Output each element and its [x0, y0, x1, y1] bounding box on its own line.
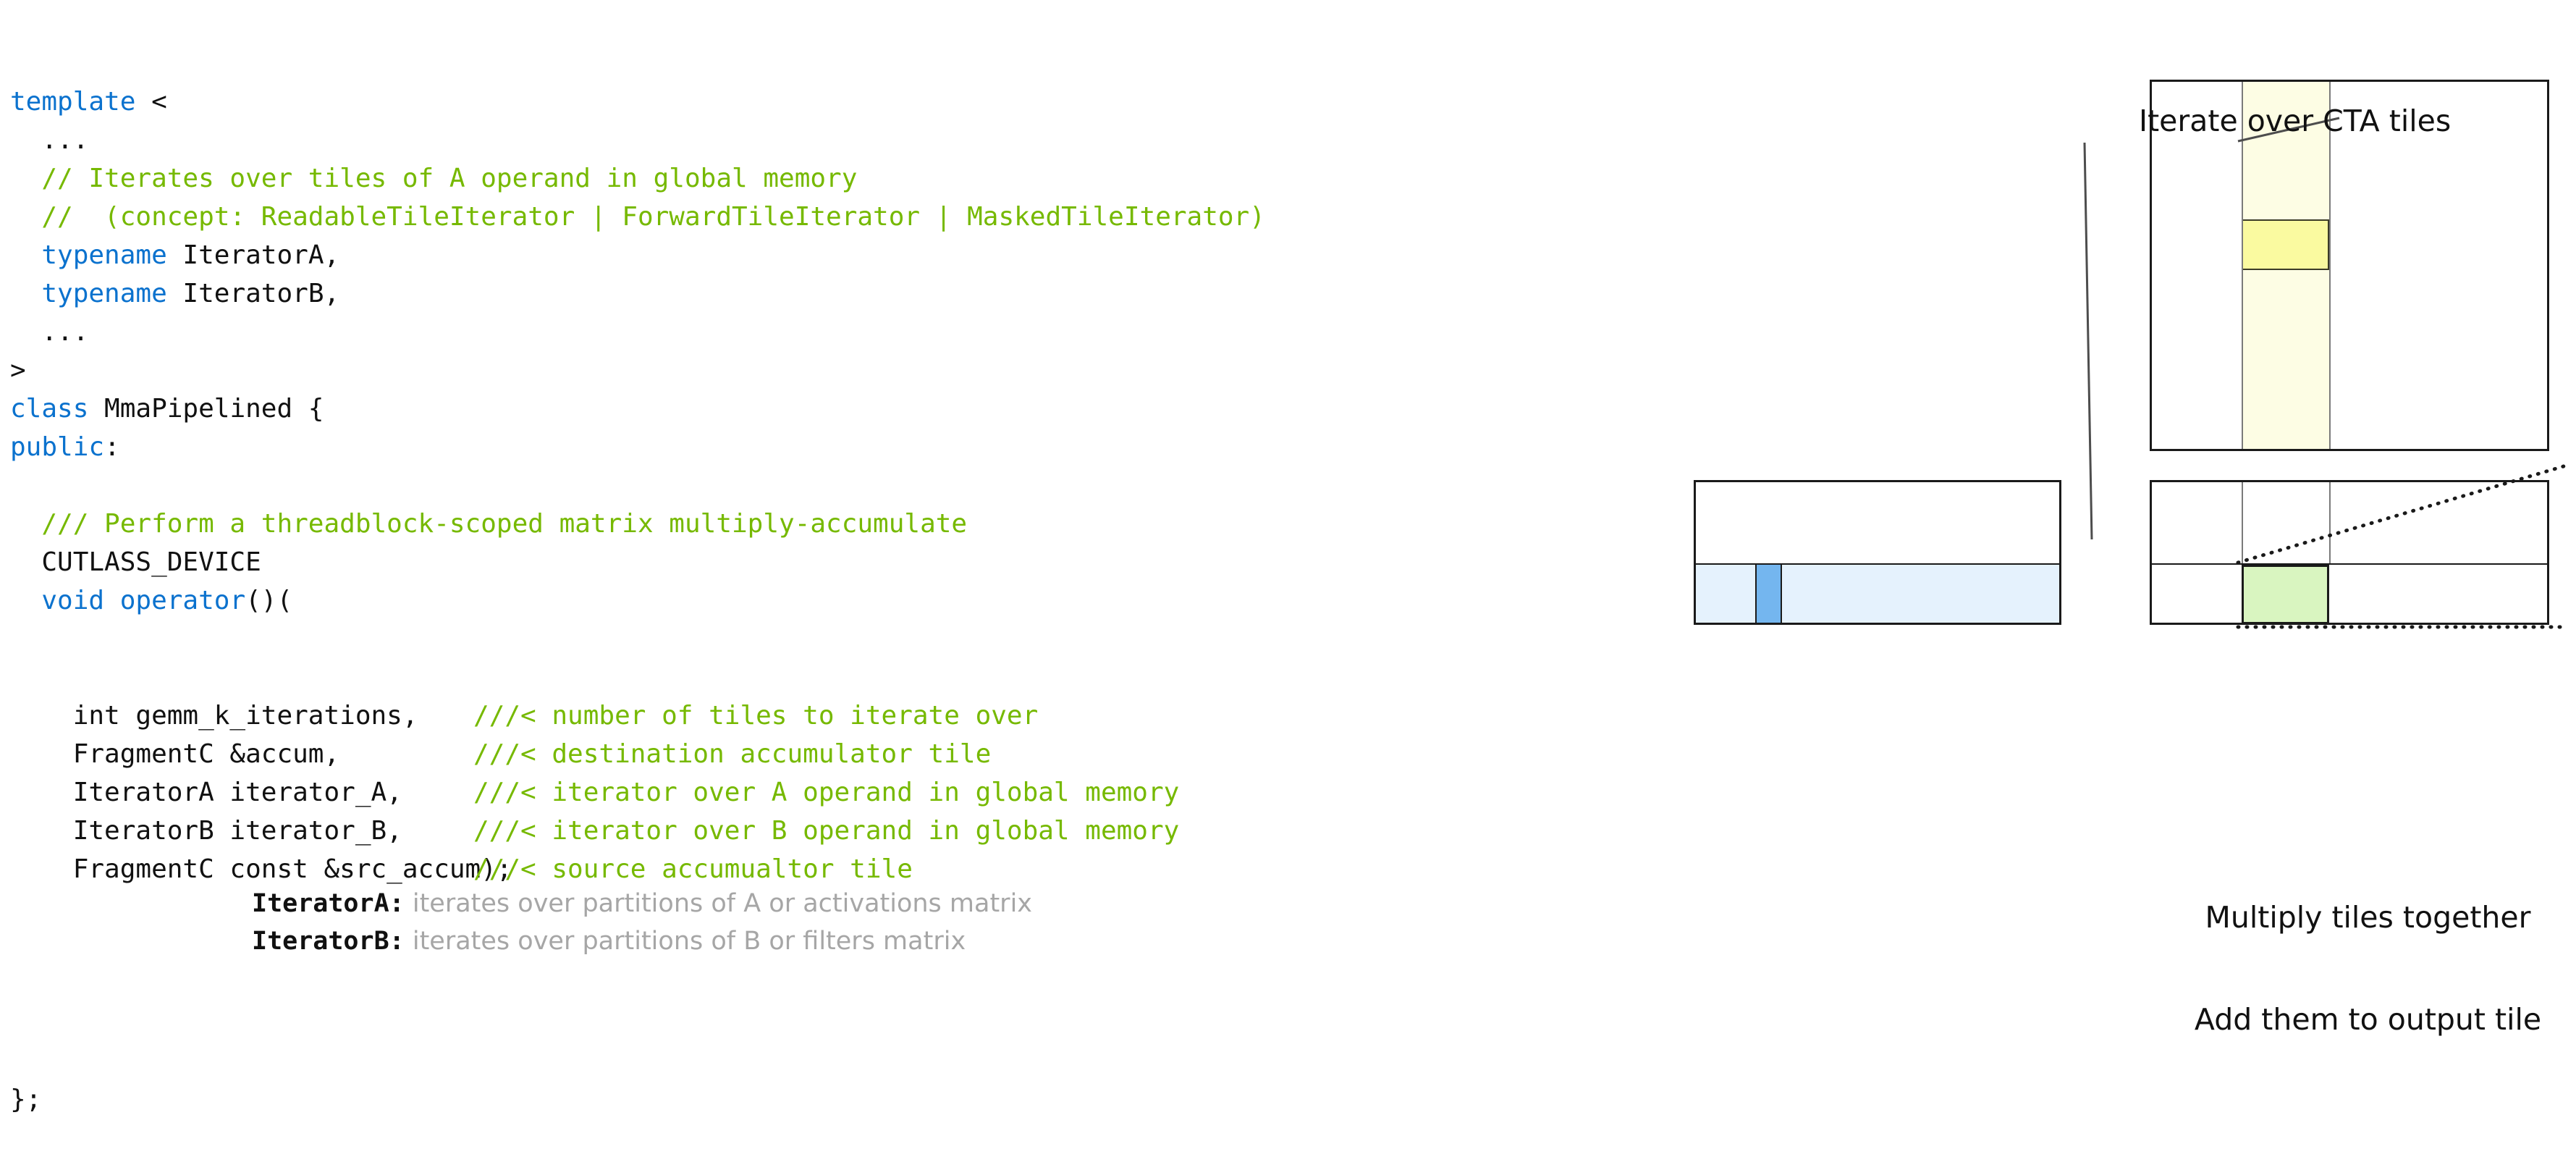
code-parameter-doc-comment: ///< iterator over A operand in global m… — [473, 773, 1179, 812]
code-token — [10, 240, 41, 270]
code-line: // (concept: ReadableTileIterator | Forw… — [10, 198, 1689, 236]
iterator-legend: IteratorA: iterates over partitions of A… — [252, 885, 1032, 960]
legend-key: IteratorB: — [252, 927, 405, 956]
b-operand-grid-line-1 — [1755, 565, 1757, 624]
code-parameter-doc-comment: ///< destination accumulator tile — [473, 735, 991, 773]
output-active-tile — [2242, 565, 2329, 624]
output-grid-line-1 — [2242, 482, 2243, 565]
code-token: : — [104, 432, 120, 462]
code-parameter-row: FragmentC const &src_accum);///< source … — [10, 850, 1689, 888]
code-token: class — [10, 394, 88, 424]
output-matrix-box — [2150, 480, 2549, 625]
code-line: CUTLASS_DEVICE — [10, 543, 1689, 581]
code-parameter-row: int gemm_k_iterations,///< number of til… — [10, 697, 1689, 735]
code-line: ... — [10, 313, 1689, 351]
tile-iteration-diagram: Iterate over CTA tiles Multiply tiles to… — [1650, 0, 2576, 989]
code-token: IteratorA, — [167, 240, 339, 270]
code-line: class MmaPipelined { — [10, 390, 1689, 428]
legend-key: IteratorA: — [252, 889, 405, 918]
code-parameter-declaration: IteratorB iterator_B, — [10, 812, 473, 850]
code-line: public: — [10, 428, 1689, 466]
code-line: ... — [10, 121, 1689, 159]
code-token: template — [10, 87, 135, 117]
code-token: // Iterates over tiles of A operand in g… — [10, 164, 857, 193]
code-blank-line — [10, 965, 1689, 1004]
code-listing: template < ... // Iterates over tiles of… — [10, 6, 1689, 1157]
a-operand-active-tile — [2242, 219, 2329, 270]
code-token: ... — [10, 317, 88, 347]
code-token: /// Perform a threadblock-scoped matrix … — [10, 509, 967, 539]
legend-row: IteratorA: iterates over partitions of A… — [252, 885, 1032, 922]
b-operand-highlight-row — [1696, 563, 2059, 623]
code-line — [10, 466, 1689, 505]
code-parameter-row: IteratorA iterator_A,///< iterator over … — [10, 773, 1689, 812]
code-line: typename IteratorA, — [10, 236, 1689, 274]
code-token: typename — [41, 240, 166, 270]
code-token: MmaPipelined { — [88, 394, 324, 424]
code-parameter-declaration: int gemm_k_iterations, — [10, 697, 473, 735]
code-line: template < — [10, 83, 1689, 121]
legend-value: iterates over partitions of B or filters… — [405, 927, 966, 956]
code-parameter-doc-comment: ///< iterator over B operand in global m… — [473, 812, 1179, 850]
code-token: // (concept: ReadableTileIterator | Forw… — [10, 202, 1265, 232]
code-token: ... — [10, 125, 88, 155]
code-parameter-declaration: IteratorA iterator_A, — [10, 773, 473, 812]
legend-value: iterates over partitions of A or activat… — [405, 889, 1032, 918]
code-parameter-list: int gemm_k_iterations,///< number of til… — [10, 697, 1689, 888]
leader-line-to-b-tile — [2085, 143, 2092, 539]
code-token: IteratorB, — [167, 279, 339, 308]
code-token: public — [10, 432, 104, 462]
b-operand-row-divider — [1696, 563, 2059, 565]
code-parameter-row: IteratorB iterator_B,///< iterator over … — [10, 812, 1689, 850]
code-line: void operator()( — [10, 581, 1689, 620]
code-token: < — [135, 87, 166, 117]
code-closing-brace: }; — [10, 1080, 1689, 1119]
b-operand-active-tile — [1755, 563, 1781, 623]
annotation-multiply-tiles: Multiply tiles together Add them to outp… — [2160, 833, 2576, 1105]
output-grid-line-2 — [2329, 482, 2331, 565]
code-parameter-doc-comment: ///< number of tiles to iterate over — [473, 697, 1038, 735]
code-line: > — [10, 351, 1689, 390]
code-token: > — [10, 355, 26, 385]
code-parameter-doc-comment: ///< source accumualtor tile — [473, 850, 913, 888]
annotation-iterate-over-cta-tiles: Iterate over CTA tiles — [2139, 104, 2451, 138]
code-token — [10, 279, 41, 308]
annotation-multiply-line-1: Multiply tiles together — [2160, 901, 2576, 935]
output-row-divider — [2152, 563, 2547, 565]
code-line: typename IteratorB, — [10, 274, 1689, 313]
b-operand-matrix-box — [1694, 480, 2061, 625]
code-token: CUTLASS_DEVICE — [10, 547, 261, 577]
code-parameter-declaration: FragmentC &accum, — [10, 735, 473, 773]
code-token: typename — [41, 279, 166, 308]
b-operand-grid-line-2 — [1781, 565, 1782, 624]
annotation-multiply-line-2: Add them to output tile — [2160, 1003, 2576, 1037]
code-lines: template < ... // Iterates over tiles of… — [10, 83, 1689, 620]
code-token: void operator — [41, 586, 245, 615]
code-parameter-row: FragmentC &accum,///< destination accumu… — [10, 735, 1689, 773]
code-parameter-declaration: FragmentC const &src_accum); — [10, 850, 473, 888]
code-token: ()( — [245, 586, 292, 615]
code-token — [10, 586, 41, 615]
code-line: /// Perform a threadblock-scoped matrix … — [10, 505, 1689, 543]
legend-row: IteratorB: iterates over partitions of B… — [252, 922, 1032, 960]
code-line: // Iterates over tiles of A operand in g… — [10, 159, 1689, 198]
